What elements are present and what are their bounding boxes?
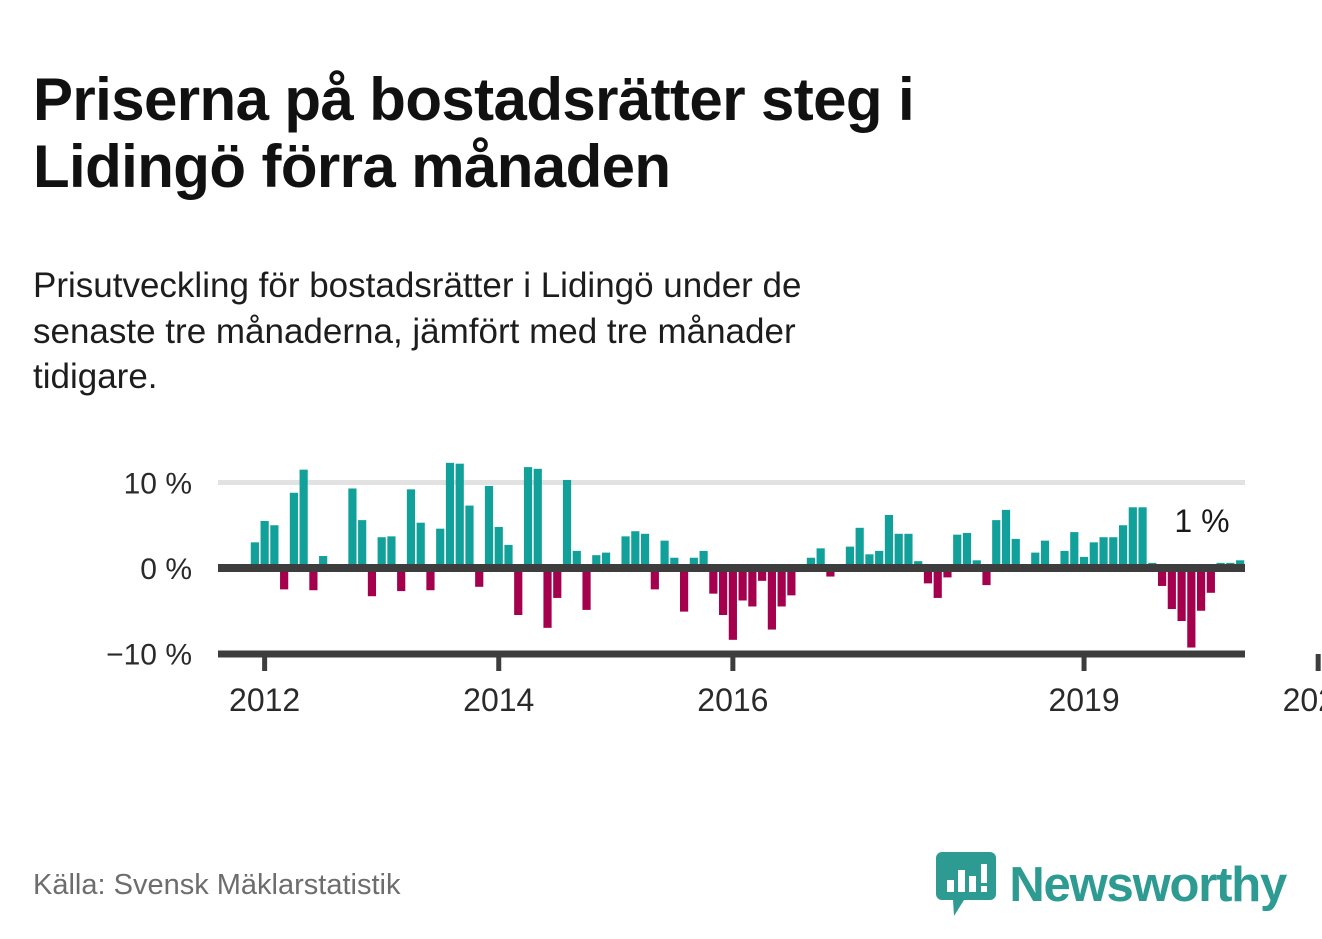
chart-bar: [456, 464, 464, 568]
x-tick-label: 2021: [1283, 682, 1322, 718]
chart-bar: [514, 568, 522, 615]
chart-bar: [631, 531, 639, 568]
y-tick-label: 0 %: [140, 553, 192, 586]
chart-bar: [856, 528, 864, 568]
infographic-page: Priserna på bostadsrätter steg i Lidingö…: [0, 0, 1322, 939]
last-value-annotation: 1 %: [1174, 503, 1229, 539]
chart-bar: [953, 535, 961, 568]
logo-wordmark: Newsworthy: [1009, 861, 1286, 910]
page-subtitle: Prisutveckling för bostadsrätter i Lidin…: [33, 263, 1148, 400]
chart-bar: [485, 486, 493, 568]
chart-bar: [680, 568, 688, 612]
chart-bar: [534, 469, 542, 568]
chart-bar: [417, 523, 425, 568]
chart-bar: [641, 534, 649, 568]
chart-bar: [524, 467, 532, 568]
chart-bar: [582, 568, 590, 610]
chart-bar: [787, 568, 795, 595]
newsworthy-bar-chart-bubble-icon: [936, 852, 996, 918]
chart-bar: [563, 480, 571, 568]
chart-bar: [768, 568, 776, 630]
chart-bar: [1070, 532, 1078, 568]
chart-bar: [368, 568, 376, 596]
x-tick-label: 2019: [1048, 682, 1119, 718]
chart-x-axis: [218, 654, 1322, 671]
source-note: Källa: Svensk Mäklarstatistik: [33, 869, 400, 902]
chart-bar: [1138, 507, 1146, 568]
chart-bar: [1099, 537, 1107, 568]
newsworthy-logo[interactable]: Newsworthy: [936, 852, 1286, 918]
bar-chart: 10 %0 %−10 % 201220142016201920212023 1 …: [0, 440, 1322, 750]
chart-bar: [660, 541, 668, 568]
chart-bar: [885, 515, 893, 568]
page-title: Priserna på bostadsrätter steg i Lidingö…: [33, 66, 1163, 200]
chart-bar: [436, 529, 444, 568]
chart-bar: [778, 568, 786, 606]
chart-bar: [1178, 568, 1186, 621]
chart-bar: [1119, 525, 1127, 568]
x-tick-label: 2014: [463, 682, 534, 718]
chart-bar: [904, 534, 912, 568]
chart-bar: [934, 568, 942, 598]
chart-bars: [251, 463, 1244, 648]
chart-bar: [407, 489, 415, 568]
chart-bar: [1002, 510, 1010, 568]
y-tick-label: −10 %: [106, 639, 192, 672]
chart-bar: [895, 534, 903, 568]
chart-container: 10 %0 %−10 % 201220142016201920212023 1 …: [0, 440, 1322, 750]
chart-x-tick-labels: 201220142016201920212023: [229, 682, 1322, 718]
chart-bar: [739, 568, 747, 600]
chart-bar: [1187, 568, 1195, 648]
chart-bar: [495, 527, 503, 568]
y-tick-label: 10 %: [124, 468, 192, 501]
chart-bar: [1041, 541, 1049, 568]
chart-bar: [963, 533, 971, 568]
chart-bar: [270, 525, 278, 568]
x-tick-label: 2012: [229, 682, 300, 718]
chart-bar: [348, 488, 356, 568]
chart-bar: [1197, 568, 1205, 611]
chart-bar: [719, 568, 727, 615]
chart-bar: [729, 568, 737, 640]
chart-bar: [543, 568, 551, 628]
chart-bar: [621, 536, 629, 568]
x-tick-label: 2016: [697, 682, 768, 718]
chart-bar: [1129, 507, 1137, 568]
chart-bar: [553, 568, 561, 598]
chart-bar: [1109, 537, 1117, 568]
chart-bar: [465, 506, 473, 568]
chart-y-tick-labels: 10 %0 %−10 %: [106, 468, 192, 672]
chart-bar: [748, 568, 756, 606]
chart-bar: [290, 493, 298, 568]
chart-annotation: 1 %: [1174, 503, 1229, 539]
chart-bar: [261, 521, 269, 568]
chart-bar: [446, 463, 454, 568]
chart-bar: [1168, 568, 1176, 609]
chart-bar: [992, 520, 1000, 568]
chart-bar: [387, 536, 395, 568]
chart-bar: [300, 470, 308, 568]
chart-bar: [378, 537, 386, 568]
chart-bar: [1012, 539, 1020, 568]
chart-bar: [358, 520, 366, 568]
